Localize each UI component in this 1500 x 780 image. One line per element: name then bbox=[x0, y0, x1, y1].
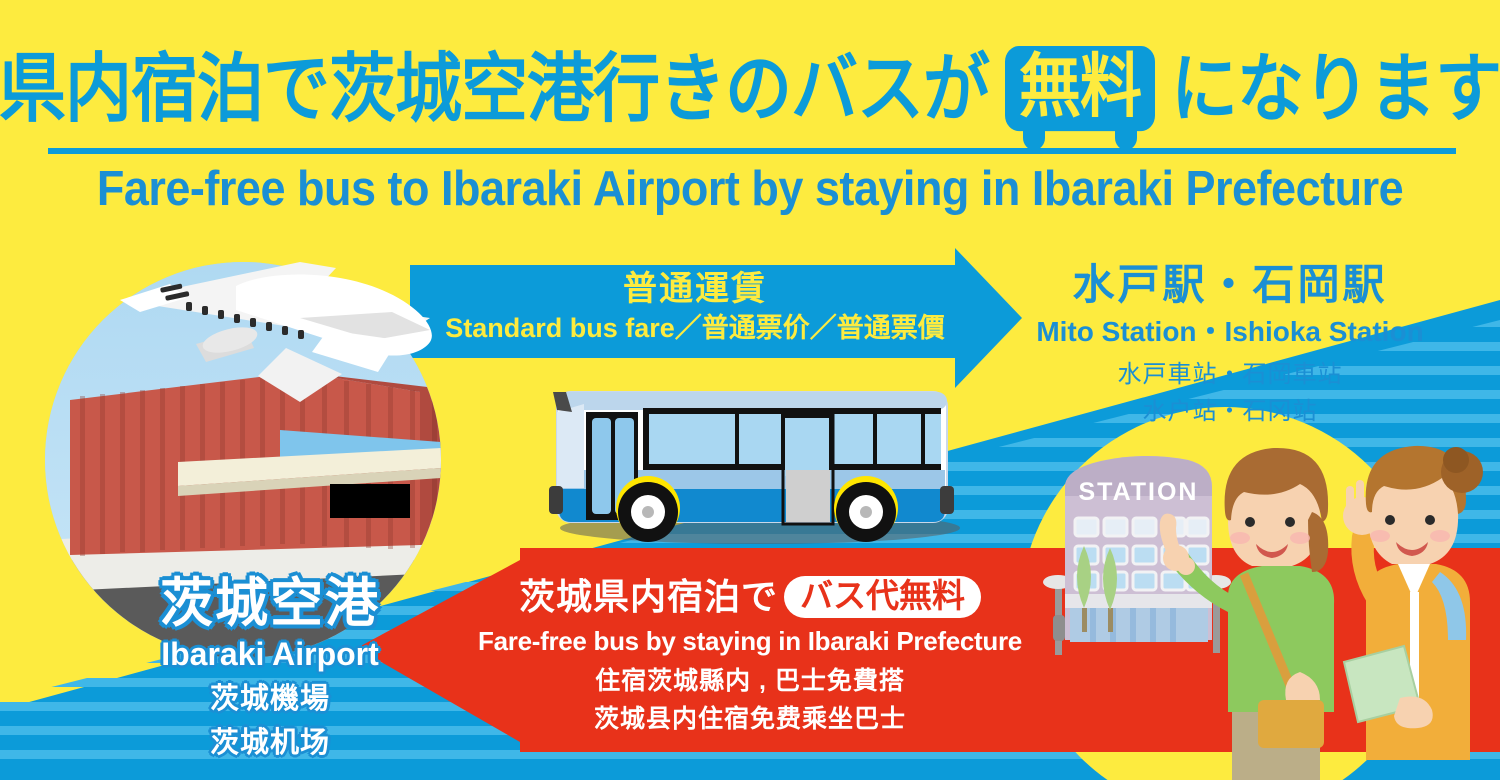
headline-english: Fare-free bus to Ibaraki Airport by stay… bbox=[0, 160, 1500, 217]
poster-canvas: 県内宿泊で茨城空港行きのバスが 無料 になります Fare-free bus t… bbox=[0, 0, 1500, 780]
station-label: 水戸駅・石岡駅 Mito Station・Ishioka Station 水戸車… bbox=[1020, 262, 1440, 426]
airport-name-zh-cn: 茨城机场 bbox=[95, 719, 445, 761]
station-name-zh-cn: 水户站・石冈站 bbox=[1020, 391, 1440, 426]
free-badge-leg-left bbox=[1023, 128, 1045, 150]
headline-jp-before: 県内宿泊で茨城空港行きのバスが bbox=[0, 51, 989, 126]
station-name-en: Mito Station・Ishioka Station bbox=[1020, 310, 1440, 350]
free-bus-label: 茨城県内宿泊で バス代無料 Fare-free bus by staying i… bbox=[450, 576, 1050, 735]
station-building-sign: STATION bbox=[1065, 478, 1212, 507]
standard-fare-subtitle: Standard bus fare／普通票价／普通票價 bbox=[440, 314, 950, 342]
free-bus-line3-zh-tw: 住宿茨城縣内 , 巴士免費搭 bbox=[450, 661, 1050, 697]
standard-fare-label: 普通運賃 Standard bus fare／普通票价／普通票價 bbox=[440, 272, 950, 342]
headline-block: 県内宿泊で茨城空港行きのバスが 無料 になります bbox=[0, 46, 1500, 122]
free-bus-line2-en: Fare-free bus by staying in Ibaraki Pref… bbox=[450, 626, 1050, 657]
airport-name-jp: 茨城空港 bbox=[95, 576, 445, 632]
airport-name-zh-tw: 茨城機場 bbox=[95, 675, 445, 717]
station-name-jp: 水戸駅・石岡駅 bbox=[1020, 262, 1440, 308]
standard-fare-title-jp: 普通運賃 bbox=[440, 272, 950, 308]
headline-japanese: 県内宿泊で茨城空港行きのバスが 無料 になります bbox=[0, 46, 1500, 131]
free-badge-label: 無料 bbox=[1019, 48, 1141, 125]
headline-divider bbox=[48, 148, 1456, 154]
free-bus-line1: 茨城県内宿泊で バス代無料 bbox=[450, 576, 1050, 618]
station-name-zh-tw: 水戸車站・石岡車站 bbox=[1020, 354, 1440, 389]
headline-jp-after: になります bbox=[1171, 51, 1500, 126]
bus-icon bbox=[549, 392, 960, 544]
free-bus-pill: バス代無料 bbox=[784, 576, 981, 618]
free-badge-leg-right bbox=[1115, 128, 1137, 150]
free-bus-line1-prefix: 茨城県内宿泊で bbox=[519, 577, 778, 617]
free-badge: 無料 bbox=[1005, 46, 1155, 131]
airport-label: 茨城空港 Ibaraki Airport 茨城機場 茨城机场 bbox=[95, 576, 445, 761]
airport-name-en: Ibaraki Airport bbox=[95, 636, 445, 673]
free-badge-legs bbox=[1005, 128, 1155, 150]
free-bus-line4-zh-cn: 茨城县内住宿免费乘坐巴士 bbox=[450, 699, 1050, 735]
